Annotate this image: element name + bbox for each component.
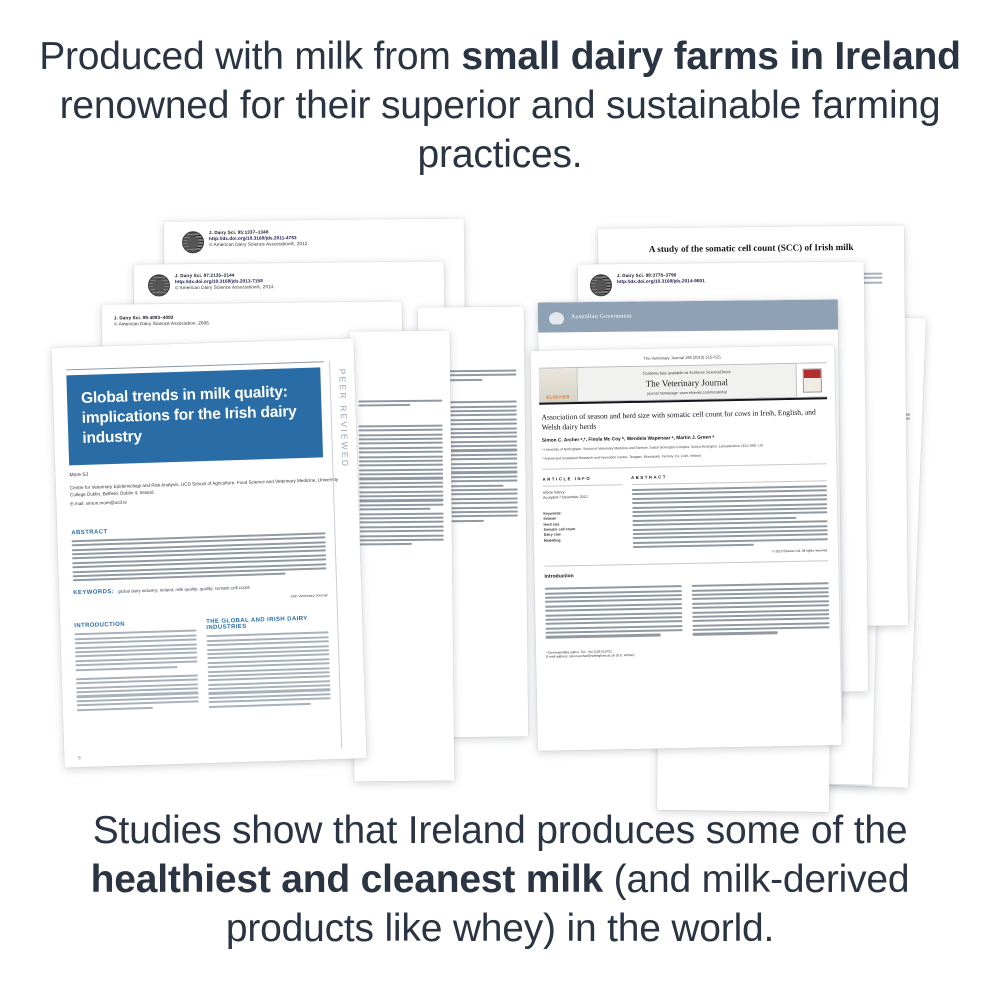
paper-veterinary-journal[interactable]: The Veterinary Journal 196 (2013) 515–52… — [530, 345, 842, 751]
peer-reviewed-tab: PEER REVIEWED — [337, 369, 350, 469]
global-trends-page-number: 5 — [78, 755, 80, 760]
elsevier-label: ELSEVIER — [546, 394, 569, 401]
global-trends-keywords-value: global dairy industry; Ireland; milk qua… — [118, 585, 250, 594]
headline-bottom: Studies show that Ireland produces some … — [0, 806, 1000, 953]
vj-article-info-label: ARTICLE INFO — [543, 475, 623, 482]
ads-globe-icon — [590, 274, 612, 296]
vj-accepted-date: Accepted 7 December 2012 — [543, 495, 623, 502]
paper-global-trends[interactable]: PEER REVIEWED Global trends in milk qual… — [51, 338, 366, 767]
vj-keyword-4: Modelling — [544, 537, 624, 544]
headline-top-line1-normal: Produced with milk from — [39, 35, 461, 78]
vj-journal-name: The Veterinary Journal — [580, 376, 794, 390]
vj-copyright: © 2012 Elsevier Ltd. All rights reserved… — [633, 548, 829, 556]
ads-globe-icon — [182, 231, 204, 253]
jds2015-citation-line2: http://dx.doi.org/10.3168/jds.2014-9001 — [617, 278, 705, 285]
infographic-canvas: Produced with milk from small dairy farm… — [0, 0, 1000, 1000]
australian-government-label: Australian Government — [571, 314, 632, 321]
ads-globe-icon — [148, 274, 170, 296]
headline-bottom-line1-bold: healthiest and cleanest milk — [91, 858, 603, 901]
australian-crest-icon — [547, 310, 566, 324]
paper-column-right-a[interactable] — [350, 330, 455, 781]
headline-top: Produced with milk from small dairy farm… — [0, 32, 1000, 179]
vj-abstract-label: ABSTRACT — [631, 471, 827, 480]
elsevier-logo-icon: ELSEVIER — [539, 368, 579, 402]
headline-top-line2-normal: renowned for their superior and sustaina… — [60, 84, 941, 176]
headline-bottom-line1-normal: Studies show that Ireland produces some … — [93, 809, 908, 852]
global-trends-title: Global trends in milk quality: implicati… — [66, 367, 323, 465]
global-trends-keywords-label: KEYWORDS: — [73, 589, 114, 596]
jds2012-citation-line3: © American Dairy Science Association®, 2… — [209, 241, 309, 248]
australian-government-banner: Australian Government — [538, 299, 838, 332]
scc-study-title: A study of the somatic cell count (SCC) … — [598, 225, 904, 254]
vj-masthead: ELSEVIER Contents lists available at Sci… — [539, 362, 828, 403]
vj-homepage-line: journal homepage: www.elsevier.com/locat… — [580, 389, 794, 397]
global-trends-journal-footer: Irish Veterinary Journal — [73, 594, 327, 606]
headline-top-line1-bold: small dairy farms — [461, 35, 778, 78]
headline-top-line2-bold: in Ireland — [789, 35, 960, 78]
global-trends-industries-heading: THE GLOBAL AND IRISH DAIRY INDUSTRIES — [206, 616, 328, 632]
vj-cover-thumb — [795, 363, 827, 397]
paper-stack: he RY 24 2004 airy 005 re A study of the… — [0, 215, 1000, 775]
jds2006-citation-line2: © American Dairy Science Association, 20… — [114, 321, 210, 328]
jds2014-citation-line3: © American Dairy Science Association®, 2… — [175, 285, 275, 292]
global-trends-intro-heading: INTRODUCTION — [74, 620, 196, 630]
